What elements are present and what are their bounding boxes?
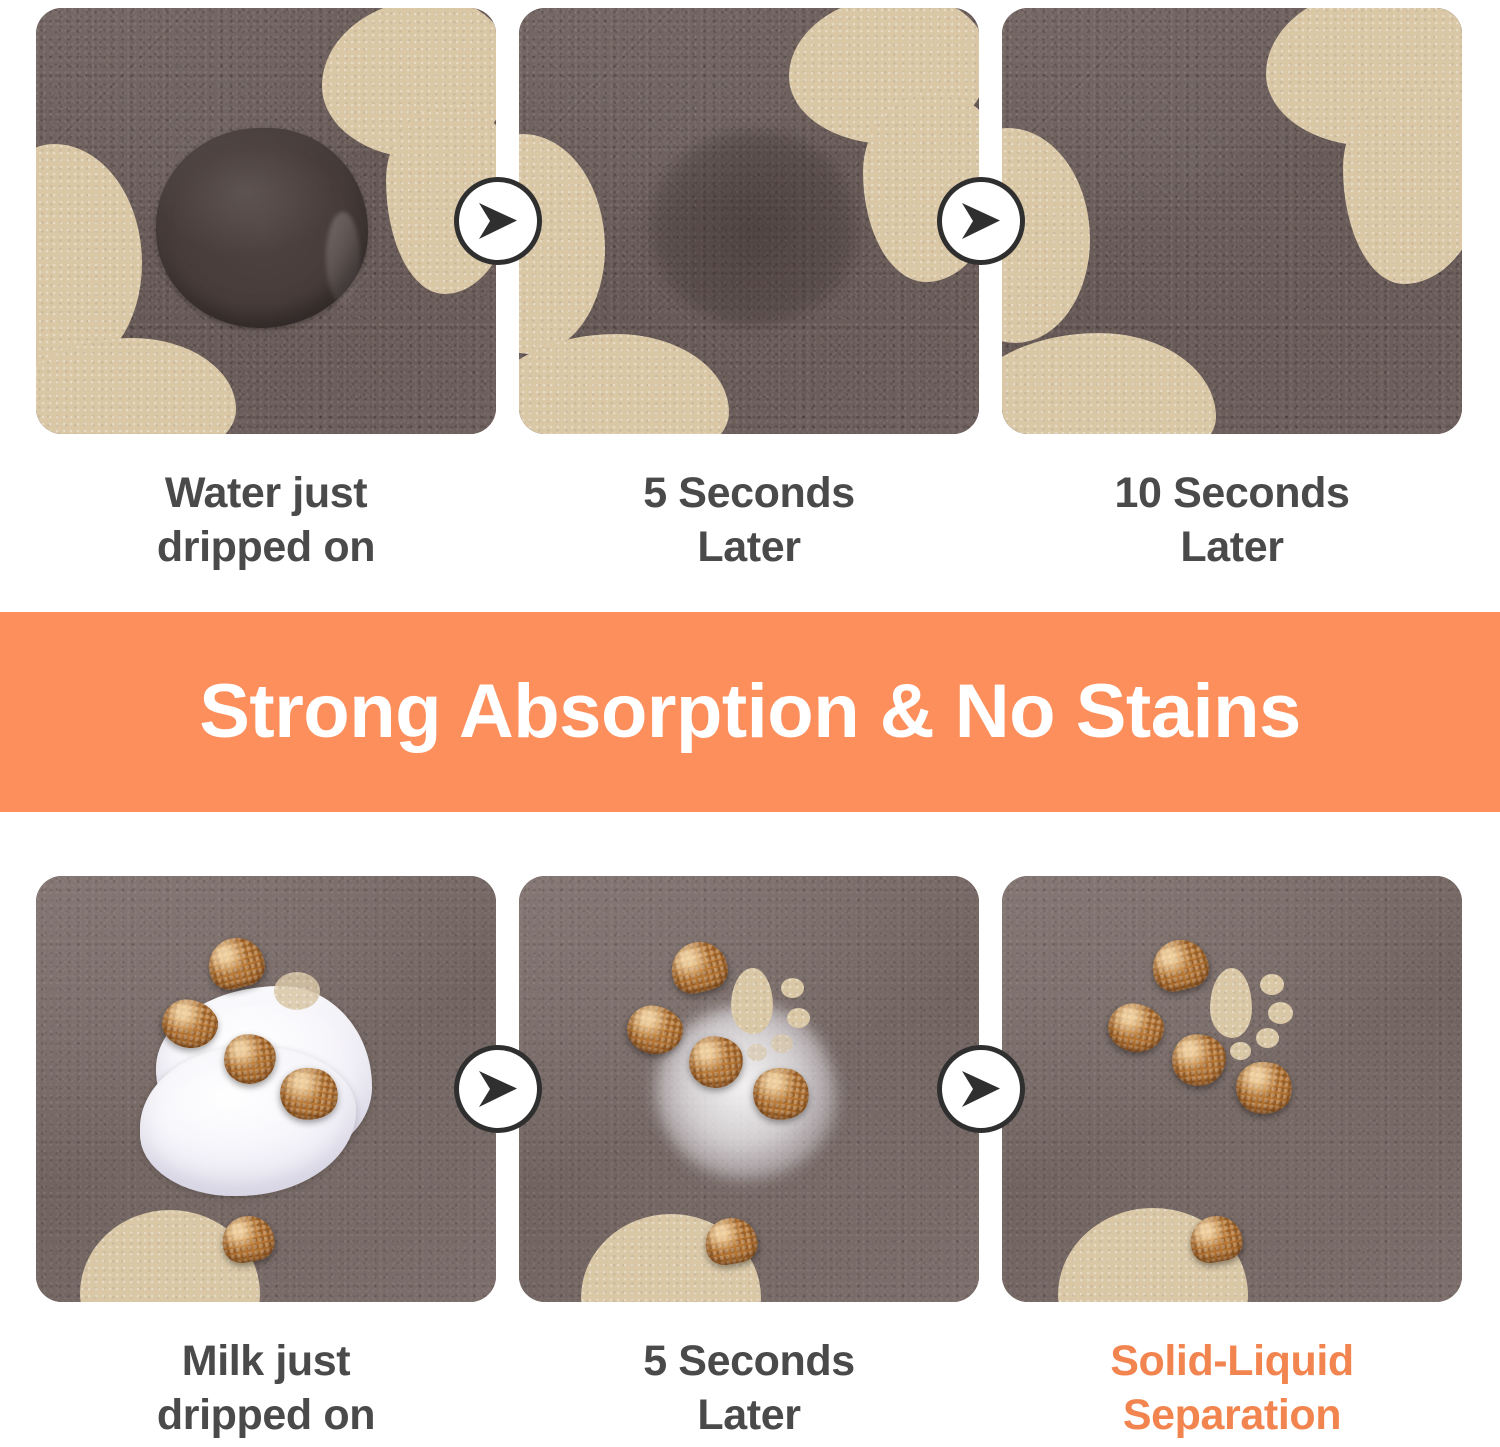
damp-ring (649, 130, 859, 326)
chevron-right-arrow-icon (958, 200, 1004, 242)
paw-pattern-pad-main (1210, 968, 1252, 1038)
infographic-page: Water just dripped on 5 Seconds Later 10… (0, 0, 1500, 1447)
photo-cell-water-dripped (36, 8, 496, 434)
photo-cell-milk-separated (1002, 876, 1462, 1302)
banner-headline: Strong Absorption & No Stains (199, 674, 1301, 750)
chevron-right-arrow-icon (475, 1068, 521, 1110)
sequence-arrow-1 (454, 177, 542, 265)
paw-pattern-toe-3 (771, 1034, 793, 1053)
caption-milk-dripped: Milk just dripped on (36, 1334, 496, 1442)
photo-cell-milk-dripped (36, 876, 496, 1302)
sequence-arrow-3 (454, 1045, 542, 1133)
paw-pattern-toe-4 (1230, 1042, 1251, 1060)
paw-pattern-toe-4 (747, 1044, 767, 1061)
photo-water-dripped (36, 8, 496, 434)
paw-pattern-toe-1 (1260, 974, 1284, 995)
paw-pattern-toe-2 (1268, 1002, 1293, 1024)
caption-water-5s: 5 Seconds Later (519, 466, 979, 574)
photo-cell-water-10s (1002, 8, 1462, 434)
caption-water-dripped: Water just dripped on (36, 466, 496, 574)
caption-water-10s: 10 Seconds Later (1002, 466, 1462, 574)
headline-banner: Strong Absorption & No Stains (0, 612, 1500, 812)
paw-pattern-pad-main (731, 968, 773, 1034)
water-test-photo-row (36, 8, 1462, 434)
paw-pattern-toe-3 (1256, 1028, 1279, 1048)
water-test-caption-row: Water just dripped on 5 Seconds Later 10… (36, 466, 1462, 574)
photo-milk-dripped (36, 876, 496, 1302)
chevron-right-arrow-icon (475, 200, 521, 242)
paw-pattern-toe-2 (787, 1008, 810, 1028)
photo-cell-milk-5s (519, 876, 979, 1302)
photo-solid-liquid-separation (1002, 876, 1462, 1302)
caption-milk-5s: 5 Seconds Later (519, 1334, 979, 1442)
photo-cell-water-5s (519, 8, 979, 434)
paw-pattern-under-milk (274, 972, 320, 1010)
photo-water-10-seconds (1002, 8, 1462, 434)
water-puddle (156, 128, 368, 328)
caption-solid-liquid-separation: Solid-Liquid Separation (1002, 1334, 1462, 1442)
paw-pattern-toe-1 (781, 978, 804, 998)
photo-water-5-seconds (519, 8, 979, 434)
sequence-arrow-2 (937, 177, 1025, 265)
milk-test-photo-row (36, 876, 1462, 1302)
chevron-right-arrow-icon (958, 1068, 1004, 1110)
sequence-arrow-4 (937, 1045, 1025, 1133)
photo-milk-5-seconds (519, 876, 979, 1302)
milk-test-caption-row: Milk just dripped on 5 Seconds Later Sol… (36, 1334, 1462, 1442)
